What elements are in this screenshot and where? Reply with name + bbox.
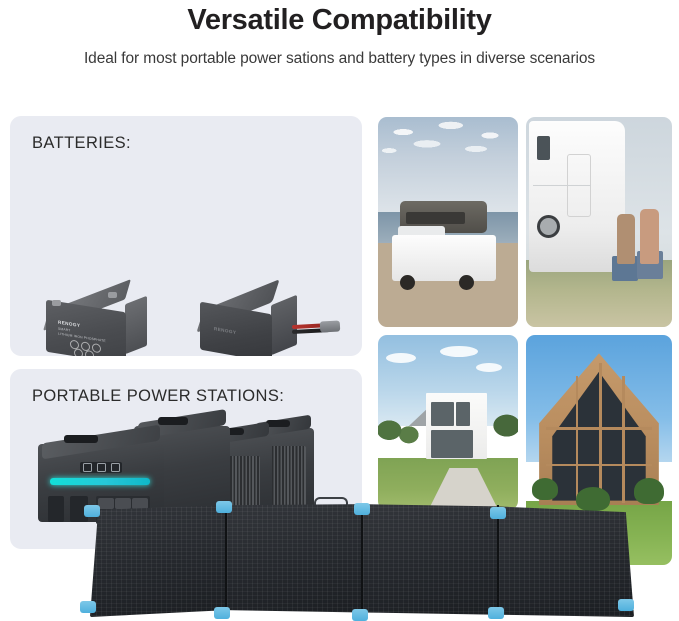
photo-content (378, 117, 518, 327)
window-mullion (576, 376, 579, 503)
bush (532, 478, 558, 500)
person-left (617, 214, 636, 264)
display-icon-power (97, 463, 106, 472)
display-icon-battery (83, 463, 92, 472)
card-power-stations-label: PORTABLE POWER STATIONS: (32, 387, 284, 406)
solar-panel-fold (226, 503, 362, 617)
rv-wheel (537, 215, 560, 238)
power-station-handle (266, 420, 290, 427)
power-station-led-strip (50, 478, 150, 485)
window-mullion (546, 427, 651, 430)
person-right (640, 209, 659, 264)
photo-truck-rooftop-tent (378, 117, 518, 327)
header: Versatile Compatibility Ideal for most p… (0, 0, 679, 68)
solar-corner-protector (488, 607, 504, 619)
solar-corner-protector (214, 607, 230, 619)
page-subtitle: Ideal for most portable power sations an… (0, 50, 679, 68)
photo-rv-campers (526, 117, 672, 327)
tent-window (406, 212, 465, 225)
infographic-page: Versatile Compatibility Ideal for most p… (0, 0, 679, 617)
card-batteries: BATTERIES: RENOGY SMART LITHIUM IRON PHO… (10, 116, 362, 356)
solar-panel-seam (225, 505, 227, 614)
rv-camper (529, 121, 625, 272)
house-window (456, 402, 470, 427)
battery-face: RENOGY (200, 302, 272, 356)
cloud (440, 346, 478, 357)
truck-wheel-front (400, 275, 415, 290)
pickup-truck (392, 235, 496, 281)
bush (634, 478, 664, 504)
battery-face: RENOGY SMART LITHIUM IRON PHOSPHATE (46, 300, 126, 356)
power-station-top (42, 425, 160, 460)
house-window (431, 402, 453, 427)
foldable-solar-panel (62, 503, 622, 617)
battery-terminal-negative (108, 292, 117, 298)
solar-corner-protector (80, 601, 96, 613)
photo-content (378, 335, 518, 510)
window-mullion (622, 376, 625, 503)
battery-side (125, 296, 147, 354)
solar-panel-wrap (62, 503, 622, 617)
solar-corner-protector (490, 507, 506, 519)
photo-content (526, 117, 672, 327)
cloud (386, 353, 416, 363)
battery-lithium-with-cable: RENOGY (196, 290, 336, 356)
clouds (378, 117, 518, 201)
page-title: Versatile Compatibility (0, 5, 679, 37)
solar-corner-protector (618, 599, 634, 611)
solar-panel-seam (361, 505, 363, 614)
window-mullion (599, 363, 602, 503)
cloud (476, 363, 502, 372)
truck-wheel-rear (459, 275, 474, 290)
power-station-handle (64, 435, 98, 443)
solar-corner-protector (216, 501, 232, 513)
solar-corner-protector (84, 505, 100, 517)
cable-connector (320, 320, 341, 332)
house-window (431, 430, 473, 458)
display-icon-input (111, 463, 120, 472)
solar-panel-fold (90, 503, 226, 617)
rv-window (537, 136, 550, 160)
solar-panel-fold (498, 503, 634, 617)
battery-terminal-positive (52, 300, 61, 306)
rv-stripe (533, 185, 591, 186)
battery-brand-label: RENOGY (214, 326, 236, 335)
solar-panel-fold (362, 503, 498, 617)
power-station-handle (158, 417, 188, 425)
solar-corner-protector (352, 609, 368, 621)
battery-smart-lithium: RENOGY SMART LITHIUM IRON PHOSPHATE (40, 292, 150, 356)
card-batteries-label: BATTERIES: (32, 134, 131, 153)
power-station-display (80, 462, 122, 473)
solar-corner-protector (354, 503, 370, 515)
photo-modern-house (378, 335, 518, 510)
solar-panel-seam (497, 505, 499, 614)
window-mullion (546, 464, 651, 467)
